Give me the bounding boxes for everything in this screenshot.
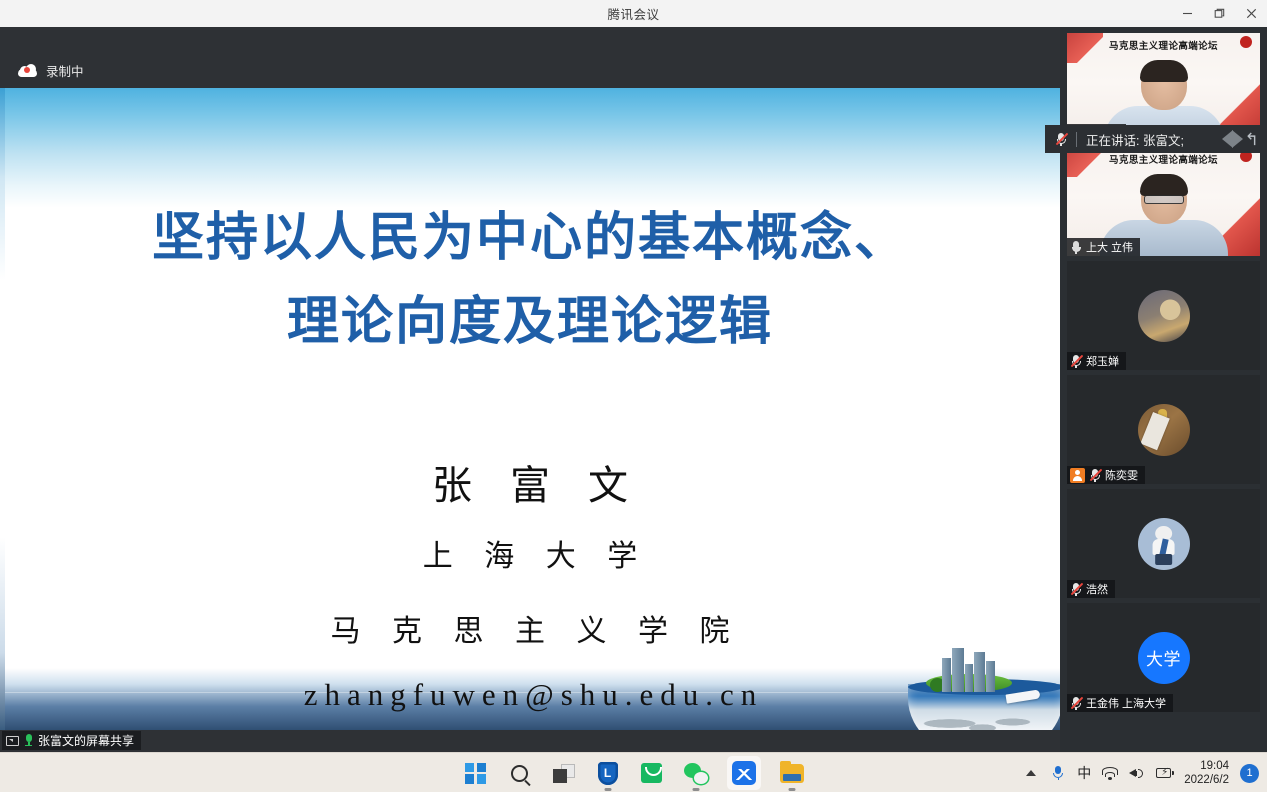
participant-name: 王金伟 上海大学 <box>1086 695 1166 711</box>
shield-icon: L <box>598 762 618 785</box>
store-app-button[interactable] <box>639 760 665 786</box>
window-title-bar[interactable]: 腾讯会议 <box>0 0 1267 27</box>
wifi-icon <box>1102 767 1118 780</box>
mic-muted-icon[interactable] <box>1070 696 1082 710</box>
double-chevron-icon-2[interactable] <box>1232 130 1243 148</box>
task-view-button[interactable] <box>551 760 577 786</box>
avatar: 大学 <box>1138 632 1190 684</box>
overlay-actions: ↰ <box>1222 130 1267 148</box>
participant-name-bar: 上大 立伟 <box>1067 238 1140 256</box>
participant-tile-zhengyuchan[interactable]: 郑玉婵 <box>1067 261 1260 370</box>
start-button[interactable] <box>463 760 489 786</box>
mic-on-icon[interactable] <box>1070 240 1082 254</box>
window-controls <box>1171 0 1267 27</box>
recording-label: 录制中 <box>46 61 84 80</box>
slide-email: zhangfuwen@shu.edu.cn <box>0 677 1060 713</box>
windows-taskbar[interactable]: L 中 <box>0 752 1267 792</box>
mic-muted-icon[interactable] <box>1089 468 1101 482</box>
notification-badge[interactable]: 1 <box>1240 764 1259 783</box>
slide-presenter-name: 张 富 文 <box>0 453 1060 511</box>
clock-date: 2022/6/2 <box>1184 773 1229 787</box>
participant-name-bar: 王金伟 上海大学 <box>1067 694 1173 712</box>
share-status-label: 张富文的屏幕共享 <box>38 732 134 749</box>
tencent-meeting-app-button[interactable] <box>727 756 761 790</box>
tencent-meeting-icon <box>732 761 756 785</box>
participant-name: 陈奕雯 <box>1105 467 1138 483</box>
tray-overflow-button[interactable] <box>1023 765 1039 781</box>
mic-muted-icon[interactable] <box>1055 132 1067 146</box>
participant-name: 浩然 <box>1086 581 1108 597</box>
share-status-pill[interactable]: 张富文的屏幕共享 <box>2 731 141 750</box>
wechat-icon <box>684 763 708 784</box>
avatar <box>1138 404 1190 456</box>
participant-tile-shangda-liwei[interactable]: 马克思主义理论高端论坛 上大 立伟 <box>1067 147 1260 256</box>
windows-logo-icon <box>465 763 486 784</box>
mic-muted-icon[interactable] <box>1070 354 1082 368</box>
return-arrow-icon[interactable]: ↰ <box>1245 131 1259 148</box>
mic-muted-icon[interactable] <box>1070 582 1082 596</box>
mic-icon <box>1053 766 1063 780</box>
task-view-icon <box>553 764 575 783</box>
meeting-window: 录制中 坚持以人民为中心的基本概念、 理论向度及理论逻辑 张 富 文 上 海 大… <box>0 27 1267 752</box>
participant-name: 上大 立伟 <box>1086 239 1133 255</box>
close-button[interactable] <box>1235 0 1267 27</box>
search-button[interactable] <box>507 760 533 786</box>
slide-sky-band <box>0 88 1060 208</box>
participant-name: 郑玉婵 <box>1086 353 1119 369</box>
clock[interactable]: 19:04 2022/6/2 <box>1184 759 1229 788</box>
avatar <box>1138 290 1190 342</box>
participant-tile-haoran[interactable]: 浩然 <box>1067 489 1260 598</box>
slide-title: 坚持以人民为中心的基本概念、 理论向度及理论逻辑 <box>0 196 1060 364</box>
overlay-divider <box>1076 132 1077 147</box>
battery-charging-icon: ⚡ <box>1156 767 1172 779</box>
university-logo-icon <box>1240 36 1252 48</box>
screen-share-icon <box>6 736 19 746</box>
page-title: 腾讯会议 <box>607 4 659 23</box>
participant-name-bar: 陈奕雯 <box>1067 466 1145 484</box>
speaker-icon <box>1129 767 1145 780</box>
participant-name-bar: 郑玉婵 <box>1067 352 1126 370</box>
slide-title-line2: 理论向度及理论逻辑 <box>0 280 1060 364</box>
mic-on-icon <box>23 734 34 747</box>
ime-indicator[interactable]: 中 <box>1077 763 1091 783</box>
shopping-bag-icon <box>641 763 662 783</box>
wechat-app-button[interactable] <box>683 760 709 786</box>
taskbar-apps: L <box>463 753 805 792</box>
tray-mic-button[interactable] <box>1050 765 1066 781</box>
host-badge-icon <box>1070 468 1085 483</box>
slide-title-line1: 坚持以人民为中心的基本概念、 <box>0 196 1060 280</box>
participant-tile-chenyiwen[interactable]: 陈奕雯 <box>1067 375 1260 484</box>
avatar <box>1138 518 1190 570</box>
participant-name-bar: 浩然 <box>1067 580 1115 598</box>
shared-screen-slide[interactable]: 坚持以人民为中心的基本概念、 理论向度及理论逻辑 张 富 文 上 海 大 学 马… <box>0 88 1060 730</box>
slide-department: 马 克 思 主 义 学 院 <box>0 606 1060 650</box>
avatar-initials: 大学 <box>1146 645 1181 670</box>
file-explorer-app-button[interactable] <box>779 760 805 786</box>
security-app-button[interactable]: L <box>595 760 621 786</box>
maximize-restore-button[interactable] <box>1203 0 1235 27</box>
volume-button[interactable] <box>1129 765 1145 781</box>
video-banner-text: 马克思主义理论高端论坛 <box>1067 38 1260 52</box>
chevron-up-icon <box>1026 770 1036 776</box>
video-banner-text: 马克思主义理论高端论坛 <box>1067 152 1260 166</box>
globe-city-graphic <box>908 666 1060 730</box>
folder-icon <box>780 764 804 783</box>
battery-button[interactable]: ⚡ <box>1156 765 1172 781</box>
search-icon <box>511 765 528 782</box>
clock-time: 19:04 <box>1184 759 1229 773</box>
speaking-label: 正在讲话: 张富文; <box>1086 130 1184 149</box>
share-status-bar <box>0 730 1060 752</box>
network-button[interactable] <box>1102 765 1118 781</box>
recording-bar: 录制中 <box>0 27 1060 88</box>
participant-tile-wangjinwei[interactable]: 大学 王金伟 上海大学 <box>1067 603 1260 712</box>
slide-organization: 上 海 大 学 <box>0 531 1060 575</box>
recording-indicator[interactable]: 录制中 <box>0 61 84 88</box>
system-tray: 中 ⚡ 19:04 2022/6/2 1 <box>1023 753 1259 792</box>
cloud-record-icon <box>18 64 37 77</box>
speaking-overlay[interactable]: 正在讲话: 张富文; ↰ <box>1045 125 1267 153</box>
minimize-button[interactable] <box>1171 0 1203 27</box>
